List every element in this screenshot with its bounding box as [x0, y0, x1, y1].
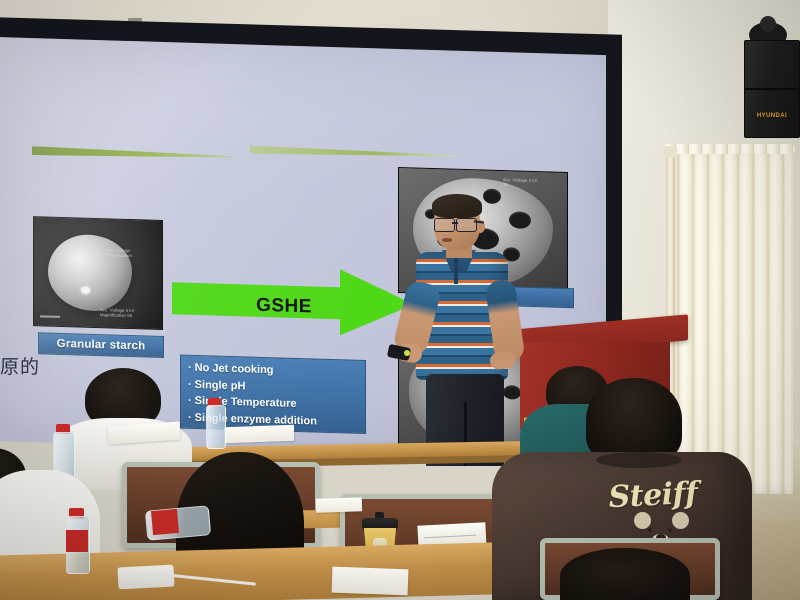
- radiator-valve: [663, 146, 677, 157]
- glasses-lens-left: [434, 218, 455, 232]
- presenter-placket: [454, 258, 458, 284]
- radiator-top-rail: [663, 144, 795, 154]
- wall-chinese-text: 原的: [0, 352, 40, 379]
- speaker-brand-label: HYUNDAI: [752, 113, 792, 119]
- notebook: [332, 567, 409, 596]
- presenter-hair: [432, 194, 482, 218]
- speaker-seam: [744, 88, 798, 90]
- bottle-label: [66, 530, 88, 552]
- presenter: [398, 196, 530, 464]
- notebook: [224, 425, 294, 443]
- paper-sheet: [316, 497, 362, 513]
- hoodie-collar: [596, 452, 682, 468]
- glasses-bridge: [452, 222, 458, 224]
- speaker-bracket-ball: [760, 16, 776, 32]
- presenter-right-hand: [489, 351, 516, 371]
- audience-head-front-right: [560, 548, 690, 600]
- bottle-label: [151, 509, 179, 535]
- phone-on-desk: [117, 565, 174, 590]
- lecture-hall-photo: Acc. VoltageMagnification Acc. Voltage 5…: [0, 0, 800, 600]
- presenter-remote-led: [404, 350, 410, 356]
- bear-eye-right: [668, 528, 672, 532]
- bear-eye-left: [648, 528, 652, 532]
- water-bottle: [206, 405, 226, 449]
- presenter-mouth: [442, 238, 452, 242]
